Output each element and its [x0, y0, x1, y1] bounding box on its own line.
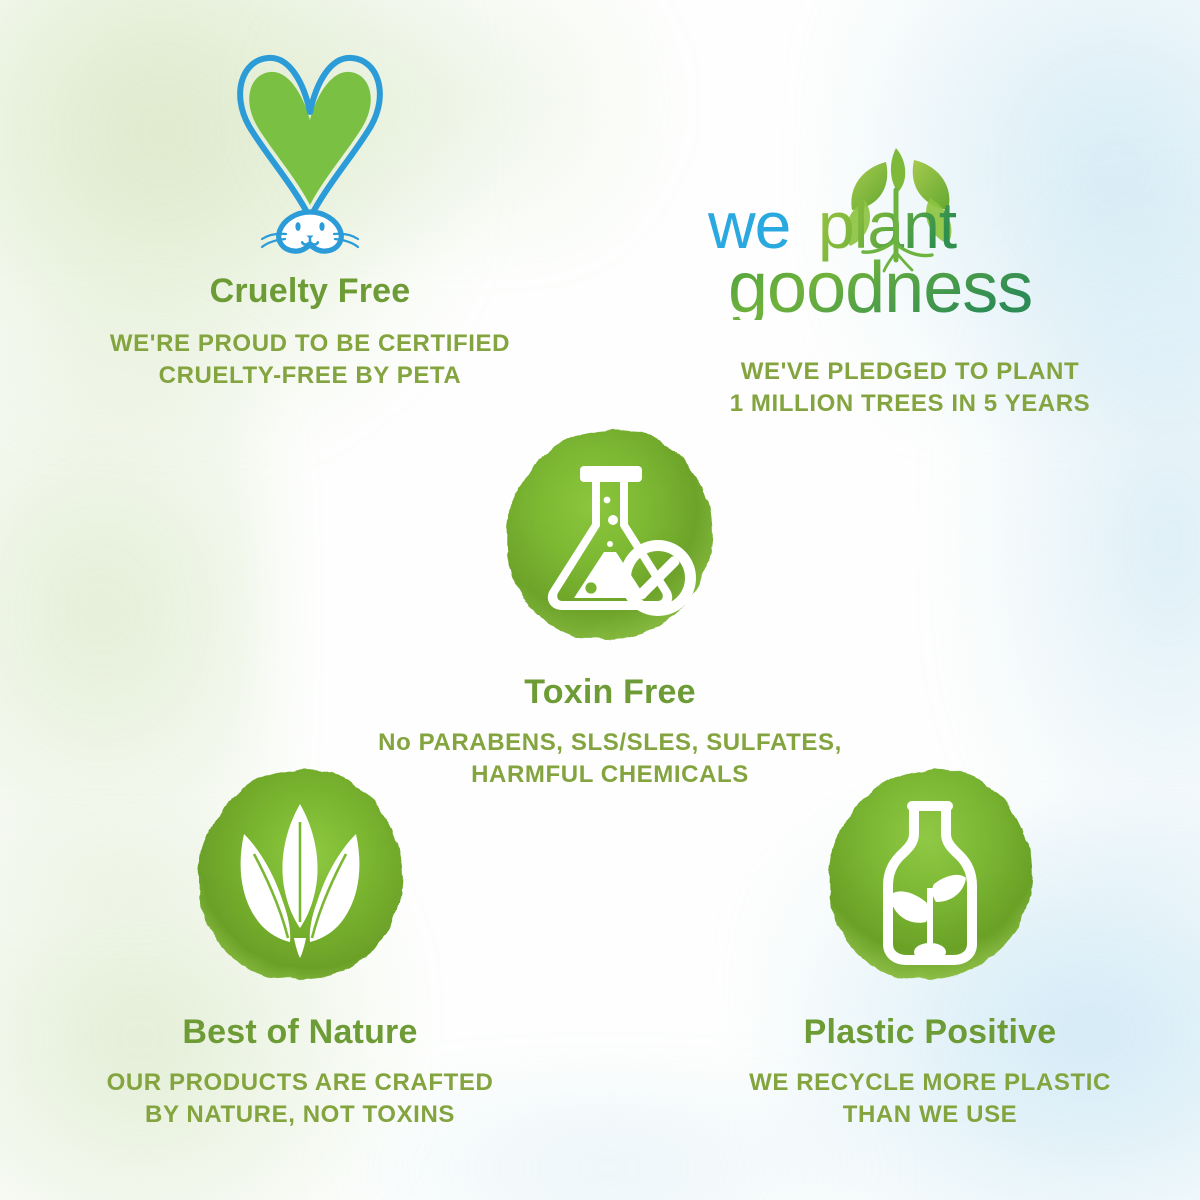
infographic-canvas: Cruelty Free WE'RE PROUD TO BE CERTIFIED… — [0, 0, 1200, 1200]
badge-description-we-plant-goodness: WE'VE PLEDGED TO PLANT 1 MILLION TREES I… — [640, 356, 1180, 419]
three-leaves-icon — [40, 762, 560, 994]
badge-title-toxin-free: Toxin Free — [340, 674, 880, 711]
badge-title-plastic-positive: Plastic Positive — [680, 1014, 1180, 1051]
bottle-sprout-icon — [680, 762, 1180, 994]
badge-we-plant-goodness: we plant goodness WE'VE PLEDGED TO PLANT… — [640, 140, 1180, 419]
badge-best-of-nature: Best of Nature OUR PRODUCTS ARE CRAFTED … — [40, 762, 560, 1131]
badge-description-plastic-positive: WE RECYCLE MORE PLASTIC THAN WE USE — [680, 1067, 1180, 1130]
badge-description-best-of-nature: OUR PRODUCTS ARE CRAFTED BY NATURE, NOT … — [40, 1067, 560, 1130]
badge-toxin-free: Toxin Free No PARABENS, SLS/SLES, SULFAT… — [340, 420, 880, 791]
flask-prohibited-icon — [340, 420, 880, 652]
badge-cruelty-free: Cruelty Free WE'RE PROUD TO BE CERTIFIED… — [30, 40, 590, 392]
badge-description-cruelty-free: WE'RE PROUD TO BE CERTIFIED CRUELTY-FREE… — [30, 328, 590, 391]
we-plant-goodness-logo: we plant goodness — [640, 140, 1180, 320]
svg-text:goodness: goodness — [728, 248, 1032, 320]
badge-plastic-positive: Plastic Positive WE RECYCLE MORE PLASTIC… — [680, 762, 1180, 1131]
badge-title-best-of-nature: Best of Nature — [40, 1014, 560, 1051]
peta-bunny-heart-icon — [30, 40, 590, 255]
badge-title-cruelty-free: Cruelty Free — [30, 273, 590, 310]
